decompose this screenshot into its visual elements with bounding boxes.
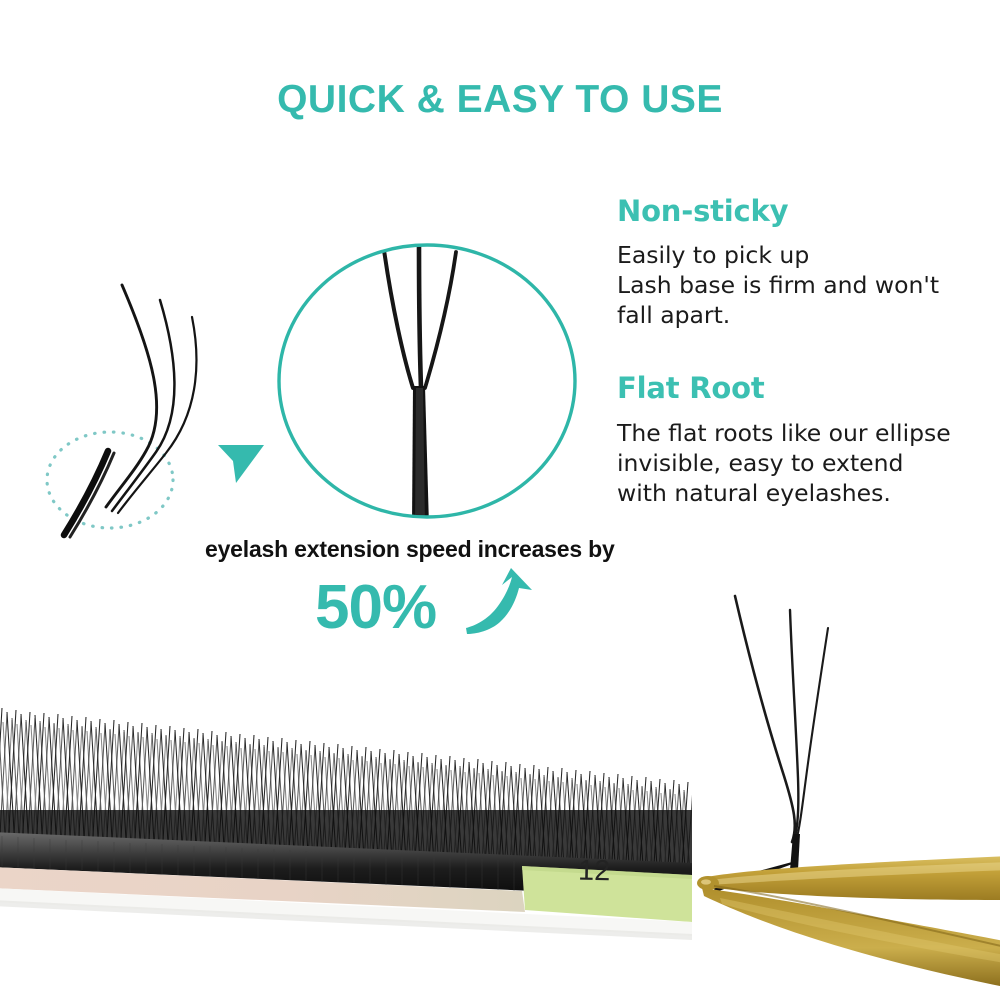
feature-heading-flat-root: Flat Root xyxy=(617,371,765,405)
lash-size-label: 12 xyxy=(578,855,611,889)
stat-caption: eyelash extension speed increases by xyxy=(205,536,615,563)
feature-heading-non-sticky: Non-sticky xyxy=(617,194,788,228)
lash-tray-graphic xyxy=(0,660,692,955)
tweezers-graphic xyxy=(680,570,1000,1000)
infographic-canvas: QUICK & EASY TO USE xyxy=(0,0,1000,1000)
magnifier-ellipse xyxy=(272,236,582,531)
triangle-pointer-icon xyxy=(218,445,264,483)
feature-body-non-sticky: Easily to pick up Lash base is firm and … xyxy=(617,240,939,330)
stat-value: 50% xyxy=(315,572,436,643)
dotted-circle-icon xyxy=(47,432,173,528)
curved-up-arrow-icon xyxy=(462,568,542,643)
page-title: QUICK & EASY TO USE xyxy=(0,78,1000,122)
left-lash-fan-graphic xyxy=(40,255,300,550)
feature-body-flat-root: The flat roots like our ellipse invisibl… xyxy=(617,418,951,508)
